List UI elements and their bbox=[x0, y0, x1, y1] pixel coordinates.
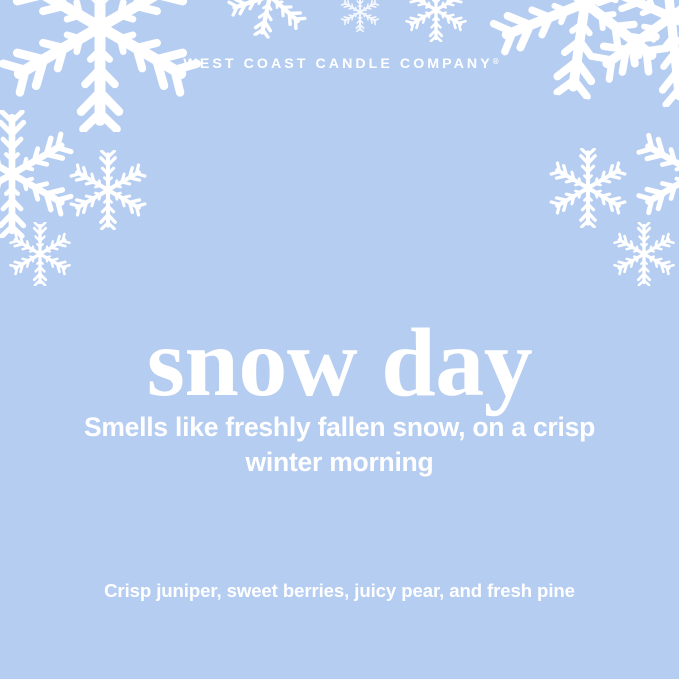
snowflake-icon bbox=[612, 222, 676, 286]
product-scent-notes: Crisp juniper, sweet berries, juicy pear… bbox=[90, 576, 590, 606]
snowflake-top-center-tiny bbox=[340, 0, 380, 32]
brand-wordmark-text: WEST COAST CANDLE COMPANY bbox=[183, 56, 492, 72]
candle-label-card: WEST COAST CANDLE COMPANY® snow day Smel… bbox=[0, 0, 679, 679]
snowflake-icon bbox=[8, 222, 72, 286]
snowflake-icon bbox=[404, 0, 468, 42]
snowflake-left-edge-large bbox=[0, 110, 76, 238]
registered-trademark-icon: ® bbox=[493, 57, 499, 66]
snowflake-top-center-left-medium bbox=[220, 0, 320, 46]
product-name: snow day bbox=[0, 314, 679, 412]
snowflake-right-lower-small bbox=[612, 222, 676, 286]
snowflake-icon bbox=[548, 148, 628, 228]
snowflake-right-edge-large bbox=[634, 112, 679, 236]
product-tagline: Smells like freshly fallen snow, on a cr… bbox=[60, 410, 620, 480]
snowflake-top-center-small bbox=[404, 0, 468, 42]
brand-wordmark: WEST COAST CANDLE COMPANY® bbox=[0, 56, 679, 72]
snowflake-icon bbox=[340, 0, 380, 32]
snowflake-left-medium bbox=[68, 150, 148, 230]
snowflake-icon bbox=[634, 112, 679, 236]
snowflake-left-lower-small bbox=[8, 222, 72, 286]
snowflake-icon bbox=[220, 0, 320, 46]
snowflake-icon bbox=[0, 110, 76, 238]
snowflake-right-medium bbox=[548, 148, 628, 228]
snowflake-icon bbox=[68, 150, 148, 230]
